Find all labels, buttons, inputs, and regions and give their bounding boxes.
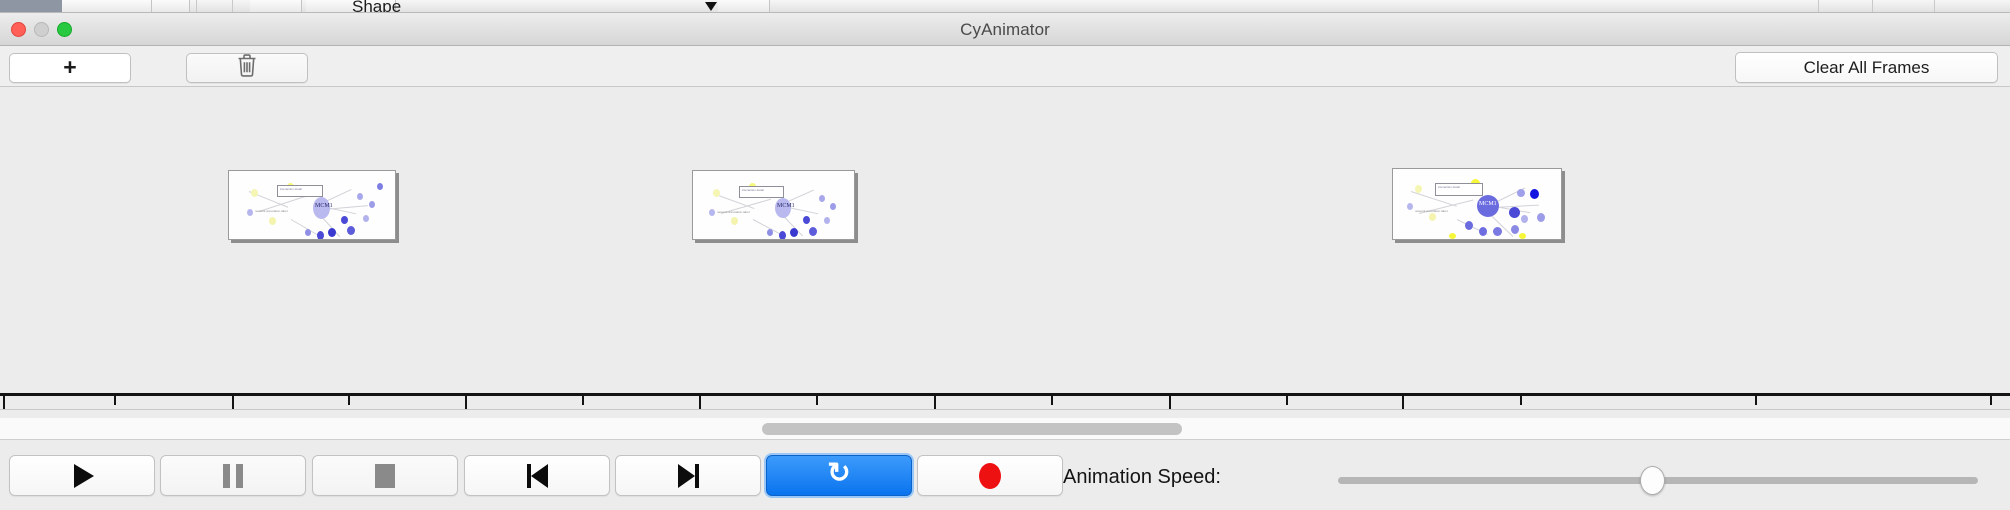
graph-caption: network annotation label xyxy=(1415,209,1448,213)
graph-tooltip: interaction detail xyxy=(1435,183,1483,196)
background-selected-tab xyxy=(0,0,62,12)
hub-node-label: MCM1 xyxy=(777,203,795,209)
hub-node-label: MCM1 xyxy=(1479,201,1497,207)
background-caret-icon xyxy=(705,2,717,11)
background-tab xyxy=(152,0,190,13)
trash-icon xyxy=(236,53,258,83)
plus-icon: + xyxy=(63,56,76,79)
timeline-scrollbar[interactable] xyxy=(0,418,2010,440)
play-icon xyxy=(74,464,94,488)
graph-tooltip: interaction detail xyxy=(739,186,784,198)
record-button[interactable] xyxy=(917,455,1063,496)
animation-speed-slider-knob[interactable] xyxy=(1640,466,1665,495)
frame-thumbnail[interactable]: MCM1 interaction detail network annotati… xyxy=(228,170,396,240)
skip-forward-icon xyxy=(678,464,699,488)
delete-frame-button[interactable] xyxy=(186,53,308,83)
background-window-strip: Shape xyxy=(0,0,2010,13)
stop-button[interactable] xyxy=(312,455,458,496)
record-icon xyxy=(979,463,1001,489)
background-tab xyxy=(250,0,302,13)
animation-speed-label: Animation Speed: xyxy=(1063,466,1221,489)
graph-caption: network annotation label xyxy=(255,209,288,213)
skip-to-start-button[interactable] xyxy=(464,455,610,496)
timeline-panel[interactable]: MCM1 interaction detail network annotati… xyxy=(0,87,2010,410)
transport-bar: ↻ Animation Speed: xyxy=(0,441,2010,510)
graph-tooltip: interaction detail xyxy=(277,185,323,197)
pause-icon xyxy=(223,464,243,488)
background-tab xyxy=(62,0,152,13)
network-graph-preview: MCM1 interaction detail network annotati… xyxy=(1393,169,1561,239)
network-graph-preview: MCM1 interaction detail network annotati… xyxy=(693,171,854,239)
frame-thumbnail[interactable]: MCM1 interaction detail network annotati… xyxy=(1392,168,1562,240)
graph-caption: network annotation label xyxy=(717,210,750,214)
window-title: CyAnimator xyxy=(0,20,2010,40)
skip-back-icon xyxy=(527,464,548,488)
network-graph-preview: MCM1 interaction detail network annotati… xyxy=(229,171,395,239)
stop-icon xyxy=(375,464,395,488)
window-title-bar[interactable]: CyAnimator xyxy=(0,13,2010,46)
pause-button[interactable] xyxy=(160,455,306,496)
frame-thumbnail[interactable]: MCM1 interaction detail network annotati… xyxy=(692,170,855,240)
loop-button[interactable]: ↻ xyxy=(766,455,912,496)
clear-all-frames-button[interactable]: Clear All Frames xyxy=(1735,52,1998,83)
timeline-axis xyxy=(0,393,2010,396)
add-frame-button[interactable]: + xyxy=(9,53,131,83)
toolbar: + Clear All Frames xyxy=(0,46,2010,87)
scrollbar-thumb[interactable] xyxy=(762,423,1182,435)
background-tab xyxy=(718,0,770,13)
play-button[interactable] xyxy=(9,455,155,496)
loop-icon: ↻ xyxy=(827,460,850,488)
skip-to-end-button[interactable] xyxy=(615,455,761,496)
hub-node-label: MCM1 xyxy=(315,203,333,209)
background-window-label: Shape xyxy=(352,0,401,13)
